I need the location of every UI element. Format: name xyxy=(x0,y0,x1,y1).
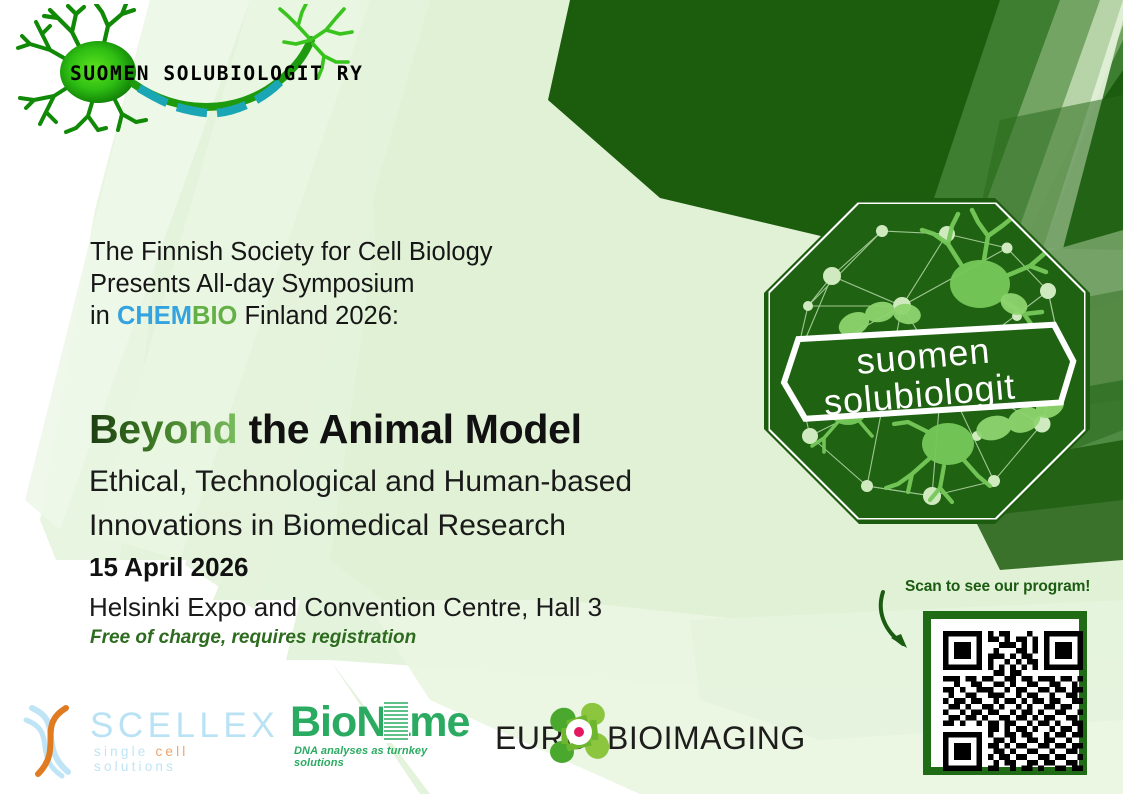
eurobioimaging-name-right: BIOIMAGING xyxy=(607,720,806,757)
intro-line-2: Presents All-day Symposium xyxy=(90,268,493,300)
sponsor-bioname: BioName DNA analyses as turnkey solution… xyxy=(290,696,480,768)
event-date: 15 April 2026 xyxy=(89,552,248,583)
page-title: Beyond the Animal Model xyxy=(89,406,582,453)
registration-note: Free of charge, requires registration xyxy=(90,627,416,649)
qr-modules xyxy=(943,631,1083,771)
society-badge: suomen solubiologit xyxy=(762,196,1092,526)
dna-gel-icon xyxy=(377,699,417,745)
intro-line-1: The Finnish Society for Cell Biology xyxy=(90,236,493,268)
society-logo-wordmark: SUOMEN SOLUBIOLOGIT RY xyxy=(70,62,363,85)
intro-prefix: in xyxy=(90,302,117,330)
headline-rest: the Animal Model xyxy=(238,406,582,452)
intro-text: The Finnish Society for Cell Biology Pre… xyxy=(90,236,493,332)
scellex-name: SCELLEX xyxy=(90,706,279,746)
dna-helix-icon xyxy=(18,700,88,780)
headline-gradient-word: Beyond xyxy=(89,406,238,452)
intro-suffix: Finland 2026: xyxy=(237,302,399,330)
chem-word: CHEM xyxy=(117,302,192,330)
scellex-tagline-accent: cell xyxy=(155,744,188,759)
poster-canvas: SUOMEN SOLUBIOLOGIT RY The Finnish Socie… xyxy=(0,0,1123,794)
bio-word: BIO xyxy=(192,302,237,330)
sponsor-scellex: SCELLEX single cell solutions xyxy=(18,698,268,768)
intro-line-3: in CHEMBIO Finland 2026: xyxy=(90,300,493,332)
bioname-tagline: DNA analyses as turnkey solutions xyxy=(294,745,480,769)
sponsor-row: SCELLEX single cell solutions BioName DN… xyxy=(0,690,800,790)
qr-code[interactable] xyxy=(923,611,1087,775)
cell-cluster-icon xyxy=(543,698,615,770)
society-logo: SUOMEN SOLUBIOLOGIT RY xyxy=(6,4,376,134)
sponsor-euro-bioimaging: EURO BIOIMAGING xyxy=(495,698,785,768)
scellex-tagline: single cell solutions xyxy=(94,744,268,774)
subtitle-line-1: Ethical, Technological and Human-based xyxy=(89,465,632,499)
subtitle-line-2: Innovations in Biomedical Research xyxy=(89,509,566,543)
event-venue: Helsinki Expo and Convention Centre, Hal… xyxy=(89,592,602,623)
